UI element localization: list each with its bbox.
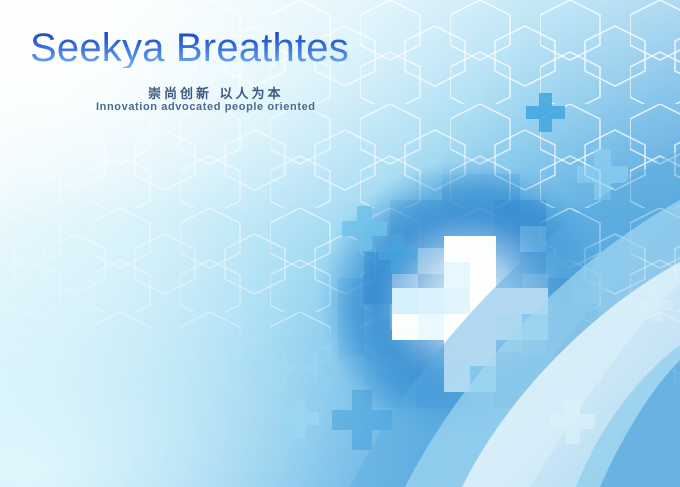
artwork-layer [0,0,680,487]
poster-canvas: Seekya Breathtes 崇尚创新 以人为本 Innovation ad… [0,0,680,487]
